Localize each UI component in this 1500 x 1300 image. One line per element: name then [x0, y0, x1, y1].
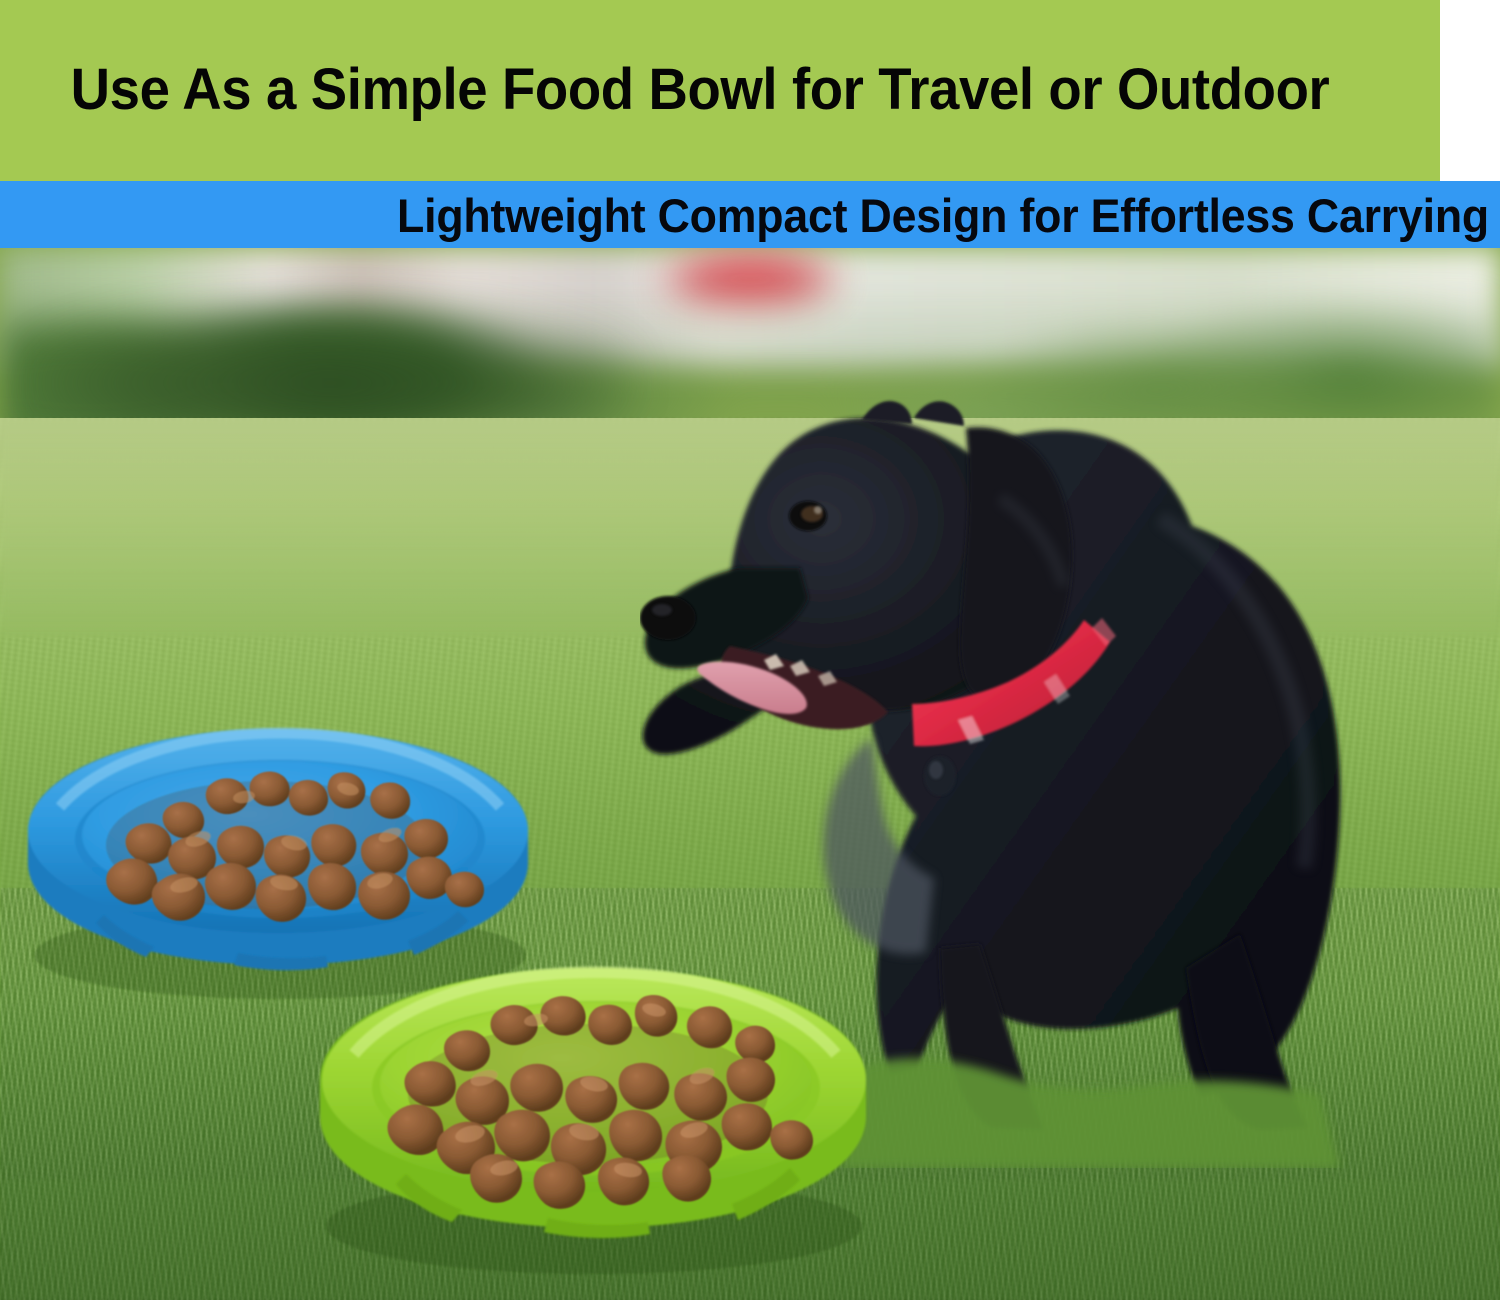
headline-primary: Use As a Simple Food Bowl for Travel or … — [42, 58, 1358, 122]
headline-secondary: Lightweight Compact Design for Effortles… — [74, 189, 1489, 243]
bowl-green — [298, 938, 888, 1278]
product-photo — [0, 248, 1500, 1300]
product-poster: Use As a Simple Food Bowl for Travel or … — [0, 0, 1500, 1300]
